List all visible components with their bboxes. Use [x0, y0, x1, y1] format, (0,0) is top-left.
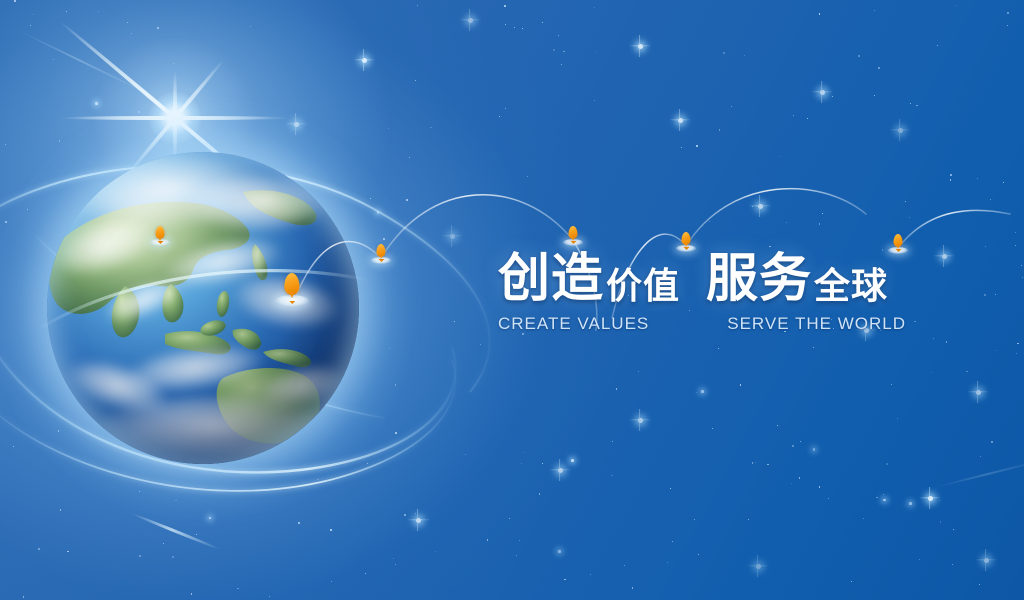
star: [67, 551, 68, 552]
star: [670, 488, 671, 489]
star: [891, 384, 892, 385]
star: [66, 11, 67, 12]
star: [196, 534, 197, 535]
pin-route-4[interactable]: [888, 234, 908, 254]
pin-globe-oceania[interactable]: [275, 273, 309, 307]
star: [611, 475, 612, 476]
star: [487, 539, 489, 541]
star: [777, 425, 778, 426]
star: [996, 350, 997, 351]
star: [883, 499, 886, 502]
headline-values: 价值: [606, 268, 680, 304]
headline-chinese: 创造 价值 服务 全球: [498, 253, 918, 305]
star: [250, 26, 251, 27]
star: [909, 502, 912, 505]
star: [672, 541, 673, 542]
star: [563, 51, 565, 53]
star: [979, 584, 980, 585]
subtitle-create-values: CREATE VALUES: [498, 314, 649, 334]
star: [269, 596, 270, 597]
star: [786, 222, 787, 223]
star: [509, 518, 510, 519]
banner-stage: 创造 价值 服务 全球 CREATE VALUES SERVE THE WORL…: [0, 0, 1024, 600]
star: [558, 550, 561, 553]
star: [23, 596, 24, 597]
headline-world: 全球: [814, 268, 888, 304]
star: [514, 27, 515, 28]
star: [590, 574, 591, 575]
star: [53, 59, 54, 60]
star: [995, 294, 996, 295]
star: [883, 494, 884, 495]
star: [542, 22, 543, 23]
star: [395, 564, 396, 565]
star: [939, 500, 940, 501]
star: [5, 144, 6, 145]
star: [990, 199, 991, 200]
star: [564, 579, 565, 580]
star: [1022, 277, 1023, 278]
star: [13, 446, 14, 447]
headline-create: 创造: [498, 253, 604, 305]
star: [696, 145, 698, 147]
star: [38, 548, 40, 550]
star: [594, 7, 595, 8]
star: [698, 554, 699, 555]
star: [157, 27, 159, 29]
star: [505, 108, 506, 109]
star: [966, 371, 968, 373]
star: [558, 35, 559, 36]
star: [331, 581, 332, 582]
pin-route-3[interactable]: [676, 232, 696, 252]
globe-light-band: [47, 152, 359, 464]
star: [191, 593, 192, 594]
star: [905, 201, 906, 202]
star: [791, 483, 792, 484]
arc-5: [686, 189, 866, 246]
star: [367, 463, 368, 464]
star: [624, 565, 625, 566]
star: [594, 100, 595, 101]
star: [638, 371, 639, 372]
star: [819, 13, 820, 14]
star: [886, 463, 888, 465]
star: [819, 223, 820, 224]
star: [524, 452, 525, 453]
star: [933, 338, 934, 339]
star: [769, 246, 771, 248]
star: [977, 178, 978, 179]
star: [863, 518, 864, 519]
star: [131, 33, 133, 35]
star: [799, 477, 800, 478]
star: [813, 448, 816, 451]
star: [681, 147, 682, 148]
star: [480, 344, 481, 345]
star: [542, 463, 543, 464]
star: [1017, 343, 1018, 344]
star: [874, 95, 876, 97]
star: [940, 521, 941, 522]
star: [127, 22, 128, 23]
star: [1015, 245, 1016, 246]
star: [539, 493, 540, 494]
star: [991, 441, 993, 443]
star: [98, 11, 99, 12]
star: [417, 5, 418, 6]
star: [909, 217, 910, 218]
star: [415, 80, 416, 81]
star: [404, 514, 406, 516]
star: [832, 96, 833, 97]
star: [916, 105, 918, 107]
pin-tip: [158, 236, 162, 241]
star: [946, 341, 947, 342]
star: [919, 559, 920, 560]
star: [298, 522, 300, 524]
star: [822, 213, 823, 214]
star: [851, 581, 852, 582]
star: [1015, 232, 1016, 233]
star: [527, 176, 528, 177]
star: [632, 587, 633, 588]
star: [616, 388, 617, 389]
star: [931, 372, 932, 373]
star: [779, 156, 780, 157]
star: [504, 5, 506, 7]
star: [435, 551, 436, 552]
star: [950, 179, 952, 181]
star: [984, 294, 985, 295]
star: [980, 456, 981, 457]
star: [950, 174, 952, 176]
star: [819, 486, 820, 487]
pin-tip: [379, 254, 383, 259]
star: [813, 347, 814, 348]
star: [694, 519, 695, 520]
star: [139, 555, 141, 557]
subtitle-serve-world: SERVE THE WORLD: [727, 314, 906, 334]
star: [955, 5, 957, 7]
star: [428, 519, 429, 520]
star: [952, 564, 953, 565]
star: [1003, 182, 1004, 183]
star: [393, 558, 394, 559]
star: [858, 55, 860, 57]
star: [1007, 25, 1008, 26]
star: [800, 441, 801, 442]
star: [521, 463, 522, 464]
star: [1021, 265, 1022, 266]
star: [752, 462, 754, 464]
star: [793, 115, 794, 116]
star: [876, 497, 877, 498]
star: [731, 106, 732, 107]
star: [465, 454, 466, 455]
star: [330, 529, 331, 530]
earth-globe: [47, 152, 359, 464]
star: [30, 25, 31, 26]
star: [454, 321, 455, 322]
star: [744, 55, 745, 56]
star: [1016, 353, 1017, 354]
star: [882, 249, 883, 250]
headline-english: CREATE VALUES SERVE THE WORLD: [498, 314, 918, 334]
pin-route-1[interactable]: [371, 244, 391, 264]
star: [522, 28, 523, 29]
star: [1007, 12, 1009, 14]
star: [499, 116, 500, 117]
star: [719, 129, 720, 130]
star: [596, 52, 597, 53]
star: [723, 52, 725, 54]
pin-tip: [684, 242, 688, 247]
star: [752, 206, 753, 207]
star: [953, 529, 954, 530]
star: [430, 127, 431, 128]
star: [365, 573, 366, 574]
star: [516, 555, 517, 556]
star: [163, 543, 164, 544]
arc-6: [898, 210, 1010, 248]
headline-block: 创造 价值 服务 全球 CREATE VALUES SERVE THE WORL…: [498, 253, 918, 334]
star: [767, 464, 768, 465]
star: [395, 432, 397, 434]
star: [415, 513, 416, 514]
star: [878, 67, 880, 69]
star: [612, 441, 614, 443]
star: [60, 509, 62, 511]
pin-tip: [896, 244, 900, 249]
star: [571, 459, 574, 462]
light-streak-bottom-right: [934, 458, 1024, 489]
star: [667, 562, 668, 563]
pin-tip: [571, 236, 575, 241]
star: [409, 157, 410, 158]
star: [172, 556, 174, 558]
star: [910, 103, 911, 104]
star: [755, 462, 756, 463]
pin-tip: [288, 289, 296, 298]
star: [807, 118, 808, 119]
star: [937, 45, 938, 46]
star: [828, 498, 829, 499]
star: [740, 384, 741, 385]
pin-globe-asia[interactable]: [150, 226, 170, 246]
star: [701, 390, 704, 393]
star: [712, 428, 713, 429]
star: [561, 64, 562, 65]
pin-route-2[interactable]: [563, 226, 583, 246]
star: [696, 392, 697, 393]
star: [897, 418, 898, 419]
star: [388, 128, 389, 129]
star: [505, 24, 506, 25]
star: [985, 246, 986, 247]
star: [237, 588, 239, 590]
star: [792, 445, 794, 447]
star: [33, 14, 34, 15]
headline-serve: 服务: [706, 253, 812, 305]
star: [709, 221, 710, 222]
star: [406, 199, 408, 201]
star: [874, 10, 875, 11]
star: [718, 348, 719, 349]
star: [519, 540, 520, 541]
star: [553, 49, 555, 51]
star: [748, 519, 749, 520]
star: [14, 0, 16, 2]
